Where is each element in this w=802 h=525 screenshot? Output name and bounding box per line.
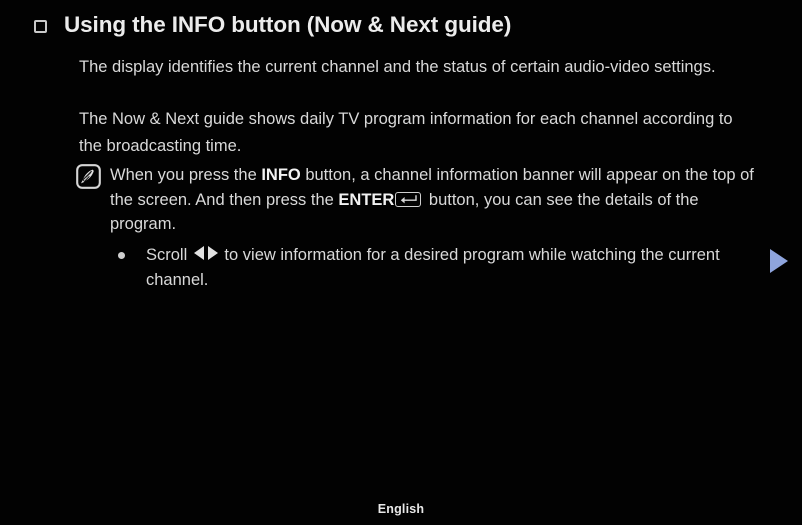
sub-bullet-part1: Scroll (146, 246, 192, 264)
note-text-part1: When you press the (110, 166, 261, 184)
sub-bullet-row: Scroll to view information for a desired… (118, 243, 763, 292)
description-paragraph-1: The display identifies the current chann… (79, 54, 751, 81)
sub-bullet-part2: to view information for a desired progra… (146, 246, 720, 289)
page-title: Using the INFO button (Now & Next guide) (64, 10, 511, 40)
triangle-left-icon (194, 246, 204, 260)
note-bold-info: INFO (261, 166, 300, 184)
sub-bullet-text: Scroll to view information for a desired… (146, 243, 756, 292)
footer: English (0, 500, 802, 518)
note-bold-enter: ENTER (338, 191, 394, 209)
note-pen-icon (76, 164, 101, 189)
triangle-right-nav-icon[interactable] (770, 249, 788, 273)
page-title-row: Using the INFO button (Now & Next guide) (34, 10, 754, 40)
square-outline-icon (34, 20, 47, 33)
tv-manual-screen: Using the INFO button (Now & Next guide)… (0, 0, 802, 525)
note-block: When you press the INFO button, a channe… (76, 163, 766, 237)
triangle-right-icon (208, 246, 218, 260)
footer-language-label: English (378, 502, 425, 516)
enter-return-key-icon (395, 192, 421, 207)
description-paragraph-2: The Now & Next guide shows daily TV prog… (79, 106, 751, 159)
dot-bullet-icon (118, 252, 125, 259)
note-text: When you press the INFO button, a channe… (110, 163, 765, 237)
